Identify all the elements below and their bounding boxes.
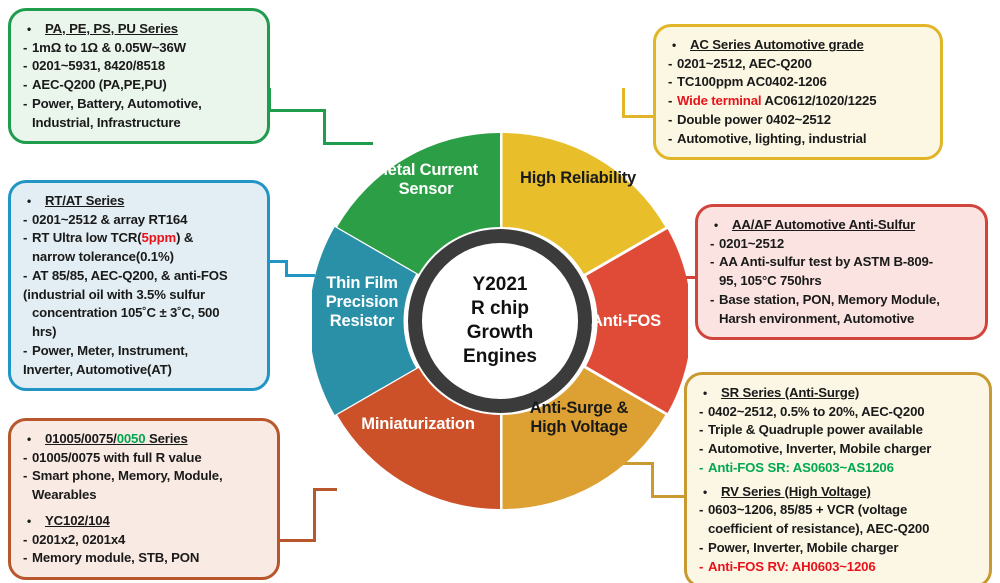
item-text: Industrial, Infrastructure: [32, 115, 181, 130]
item-text: 1mΩ to 1Ω & 0.05W~36W: [32, 40, 186, 55]
item-text: narrow tolerance(0.1%): [32, 249, 174, 264]
item-text: Anti-FOS SR: AS0603~AS1206: [708, 460, 894, 475]
item-text: RT Ultra low TCR(: [32, 230, 142, 245]
box-title: PA, PE, PS, PU Series: [23, 20, 257, 39]
item-text: Harsh environment, Automotive: [719, 311, 914, 326]
diagram-canvas: Y2021 R chip Growth Engines Metal Curren…: [0, 0, 1000, 583]
hub-line: R chip: [420, 297, 580, 321]
list-item-cont: Harsh environment, Automotive: [710, 310, 975, 329]
item-text: 0603~1206, 85/85 + VCR (voltage: [708, 502, 907, 517]
item-text: Automotive, lighting, industrial: [677, 131, 866, 146]
item-highlight: 5ppm: [142, 230, 177, 245]
item-text: AT 85/85, AEC-Q200, & anti-FOS: [32, 268, 228, 283]
list-item: Base station, PON, Memory Module,: [710, 291, 975, 310]
list-item: Triple & Quadruple power available: [699, 421, 979, 440]
box-title-text: AC Series Automotive grade: [690, 37, 864, 52]
list-item: AEC-Q200 (PA,PE,PU): [23, 76, 257, 95]
list-item: Automotive, Inverter, Mobile charger: [699, 440, 979, 459]
box-title-secondary: RV Series (High Voltage): [699, 483, 979, 502]
item-text: (industrial oil with 3.5% sulfur: [23, 287, 205, 302]
list-item: 0402~2512, 0.5% to 20%, AEC-Q200: [699, 403, 979, 422]
list-item: AT 85/85, AEC-Q200, & anti-FOS: [23, 267, 257, 286]
item-text: 0201~2512: [719, 236, 784, 251]
box-title-text: RV Series (High Voltage): [721, 484, 871, 499]
box-title-text: PA, PE, PS, PU Series: [45, 21, 178, 36]
item-text: coefficient of resistance), AEC-Q200: [708, 521, 929, 536]
list-item: Wide terminal AC0612/1020/1225: [668, 92, 930, 111]
title-part: 01005/0075/: [45, 431, 117, 446]
item-text: ) &: [176, 230, 193, 245]
list-item-cont: narrow tolerance(0.1%): [23, 248, 257, 267]
list-item-cont: Inverter, Automotive(AT): [23, 361, 257, 380]
box-title-text: YC102/104: [45, 513, 110, 528]
box-title-text: SR Series (Anti-Surge): [721, 385, 859, 400]
list-item-cont: hrs): [23, 323, 257, 342]
list-item: RT Ultra low TCR(5ppm) &: [23, 229, 257, 248]
item-text: 0402~2512, 0.5% to 20%, AEC-Q200: [708, 404, 924, 419]
item-text: Triple & Quadruple power available: [708, 422, 923, 437]
spacer: [23, 505, 267, 512]
info-box-ac-series: AC Series Automotive grade 0201~2512, AE…: [653, 24, 943, 160]
list-item: 0603~1206, 85/85 + VCR (voltage: [699, 501, 979, 520]
list-item: Power, Battery, Automotive,: [23, 95, 257, 114]
item-text: 0201~2512 & array RT164: [32, 212, 187, 227]
connector-segment: [278, 539, 316, 542]
list-item: 0201x2, 0201x4: [23, 531, 267, 550]
box-title: SR Series (Anti-Surge): [699, 384, 979, 403]
list-item-cont: Wearables: [23, 486, 267, 505]
item-text: Memory module, STB, PON: [32, 550, 199, 565]
box-title-secondary: YC102/104: [23, 512, 267, 531]
list-item: AA Anti-sulfur test by ASTM B-809-: [710, 253, 975, 272]
item-text: 0201~2512, AEC-Q200: [677, 56, 812, 71]
info-box-pa-series: PA, PE, PS, PU Series 1mΩ to 1Ω & 0.05W~…: [8, 8, 270, 144]
growth-engines-wheel: Y2021 R chip Growth Engines Metal Curren…: [312, 133, 688, 509]
list-item: 0201~5931, 8420/8518: [23, 57, 257, 76]
info-box-miniaturization-series: 01005/0075/0050 Series 01005/0075 with f…: [8, 418, 280, 580]
box-title-text: 01005/0075/0050 Series: [45, 431, 188, 446]
info-box-sr-rv-series: SR Series (Anti-Surge) 0402~2512, 0.5% t…: [684, 372, 992, 583]
list-item-cont: Industrial, Infrastructure: [23, 114, 257, 133]
list-item-cont: 95, 105°C 750hrs: [710, 272, 975, 291]
box-title: AA/AF Automotive Anti-Sulfur: [710, 216, 975, 235]
item-text: Smart phone, Memory, Module,: [32, 468, 222, 483]
connector-thin-film-precision-resistor: [266, 246, 316, 276]
list-item: Power, Meter, Instrument,: [23, 342, 257, 361]
item-text: concentration 105˚C ± 3˚C, 500: [32, 305, 219, 320]
item-text: 01005/0075 with full R value: [32, 450, 202, 465]
item-text: Anti-FOS RV: AH0603~1206: [708, 559, 876, 574]
title-highlight: 0050: [117, 431, 146, 446]
hub-line: Growth: [420, 321, 580, 345]
box-title-text: AA/AF Automotive Anti-Sulfur: [732, 217, 915, 232]
item-text: AC0612/1020/1225: [761, 93, 876, 108]
item-text: Automotive, Inverter, Mobile charger: [708, 441, 931, 456]
list-item: Double power 0402~2512: [668, 111, 930, 130]
item-text: 95, 105°C 750hrs: [719, 273, 822, 288]
list-item: Anti-FOS SR: AS0603~AS1206: [699, 459, 979, 478]
list-item: 0201~2512 & array RT164: [23, 211, 257, 230]
list-item: 0201~2512: [710, 235, 975, 254]
list-item: Power, Inverter, Mobile charger: [699, 539, 979, 558]
item-text: Power, Battery, Automotive,: [32, 96, 202, 111]
item-text: Inverter, Automotive(AT): [23, 362, 172, 377]
box-title-text: RT/AT Series: [45, 193, 124, 208]
item-text: AA Anti-sulfur test by ASTM B-809-: [719, 254, 933, 269]
hub-line: Y2021: [420, 273, 580, 297]
item-text: Double power 0402~2512: [677, 112, 831, 127]
connector-segment: [622, 88, 625, 118]
box-title: RT/AT Series: [23, 192, 257, 211]
item-text: TC100ppm AC0402-1206: [677, 74, 827, 89]
item-text: Power, Inverter, Mobile charger: [708, 540, 898, 555]
list-item: 0201~2512, AEC-Q200: [668, 55, 930, 74]
item-text: AEC-Q200 (PA,PE,PU): [32, 77, 167, 92]
list-item: 01005/0075 with full R value: [23, 449, 267, 468]
item-text: Base station, PON, Memory Module,: [719, 292, 940, 307]
hub-line: Engines: [420, 345, 580, 369]
connector-segment: [285, 274, 315, 277]
item-text: hrs): [32, 324, 56, 339]
box-title: 01005/0075/0050 Series: [23, 430, 267, 449]
connector-segment: [268, 109, 326, 112]
list-item-cont: concentration 105˚C ± 3˚C, 500: [23, 304, 257, 323]
list-item-cont: coefficient of resistance), AEC-Q200: [699, 520, 979, 539]
item-text: 0201x2, 0201x4: [32, 532, 125, 547]
list-item-cont: (industrial oil with 3.5% sulfur: [23, 286, 257, 305]
info-box-rt-at-series: RT/AT Series 0201~2512 & array RT164 RT …: [8, 180, 270, 391]
info-box-aa-af-series: AA/AF Automotive Anti-Sulfur 0201~2512 A…: [695, 204, 988, 340]
title-part: Series: [145, 431, 187, 446]
item-text: Power, Meter, Instrument,: [32, 343, 188, 358]
list-item: Automotive, lighting, industrial: [668, 130, 930, 149]
list-item: Smart phone, Memory, Module,: [23, 467, 267, 486]
item-highlight: Wide terminal: [677, 93, 761, 108]
item-text: Wearables: [32, 487, 96, 502]
wheel-hub-text: Y2021 R chip Growth Engines: [420, 273, 580, 369]
list-item: TC100ppm AC0402-1206: [668, 73, 930, 92]
list-item: Anti-FOS RV: AH0603~1206: [699, 558, 979, 577]
list-item: 1mΩ to 1Ω & 0.05W~36W: [23, 39, 257, 58]
box-title: AC Series Automotive grade: [668, 36, 930, 55]
list-item: Memory module, STB, PON: [23, 549, 267, 568]
item-text: 0201~5931, 8420/8518: [32, 58, 165, 73]
